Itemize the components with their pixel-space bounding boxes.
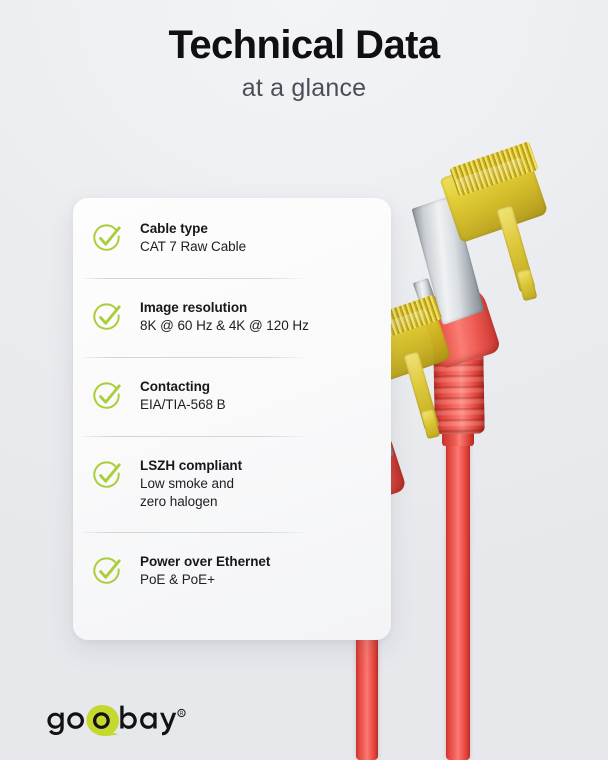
spec-description: CAT 7 Raw Cable [140, 238, 377, 257]
spec-list: Cable typeCAT 7 Raw CableImage resolutio… [73, 198, 391, 612]
svg-text:R: R [180, 711, 184, 717]
logo-letter-g [47, 713, 63, 735]
logo-letter-b [120, 706, 137, 729]
logo-letter-o1 [67, 712, 84, 729]
page-title: Technical Data [0, 22, 608, 68]
spec-description-line: Low smoke and [140, 475, 377, 494]
spec-description: EIA/TIA-568 B [140, 396, 377, 415]
spec-text: LSZH compliantLow smoke andzero halogen [140, 457, 377, 512]
spec-item: Image resolution8K @ 60 Hz & 4K @ 120 Hz [73, 278, 391, 357]
spec-description-line: zero halogen [140, 493, 377, 512]
check-circle-icon [92, 223, 122, 253]
spec-title: Contacting [140, 378, 377, 396]
logo-letter-a [140, 712, 157, 729]
specs-card: Cable typeCAT 7 Raw CableImage resolutio… [73, 198, 391, 640]
spec-title: Image resolution [140, 299, 377, 317]
infographic-canvas: Technical Data at a glance [0, 0, 608, 760]
spec-description-line: 8K @ 60 Hz & 4K @ 120 Hz [140, 317, 377, 336]
header: Technical Data at a glance [0, 22, 608, 103]
spec-title: Cable type [140, 220, 377, 238]
spec-text: ContactingEIA/TIA-568 B [140, 378, 377, 415]
logo-letter-y [160, 713, 176, 736]
latch-tip-front [517, 269, 538, 301]
spec-title: Power over Ethernet [140, 553, 377, 571]
spec-text: Power over EthernetPoE & PoE+ [140, 553, 377, 590]
spec-item: Power over EthernetPoE & PoE+ [73, 532, 391, 612]
spec-item: Cable typeCAT 7 Raw Cable [73, 198, 391, 278]
check-circle-icon [92, 302, 122, 332]
spec-item: LSZH compliantLow smoke andzero halogen [73, 436, 391, 532]
page-subtitle: at a glance [0, 74, 608, 103]
spec-text: Image resolution8K @ 60 Hz & 4K @ 120 Hz [140, 299, 377, 336]
spec-description: PoE & PoE+ [140, 571, 377, 590]
goobay-logo-svg: R [46, 702, 196, 736]
logo-bubble-shape [87, 705, 120, 736]
spec-text: Cable typeCAT 7 Raw Cable [140, 220, 377, 257]
check-circle-icon [92, 556, 122, 586]
goobay-logo: R [46, 702, 196, 736]
spec-title: LSZH compliant [140, 457, 377, 475]
spec-description-line: EIA/TIA-568 B [140, 396, 377, 415]
spec-description-line: PoE & PoE+ [140, 571, 377, 590]
check-circle-icon [92, 381, 122, 411]
cable-jacket-front [446, 430, 470, 760]
logo-trademark-icon: R [178, 709, 185, 717]
spec-description: Low smoke andzero halogen [140, 475, 377, 512]
check-circle-icon [92, 460, 122, 490]
spec-description: 8K @ 60 Hz & 4K @ 120 Hz [140, 317, 377, 336]
spec-item: ContactingEIA/TIA-568 B [73, 357, 391, 436]
spec-description-line: CAT 7 Raw Cable [140, 238, 377, 257]
